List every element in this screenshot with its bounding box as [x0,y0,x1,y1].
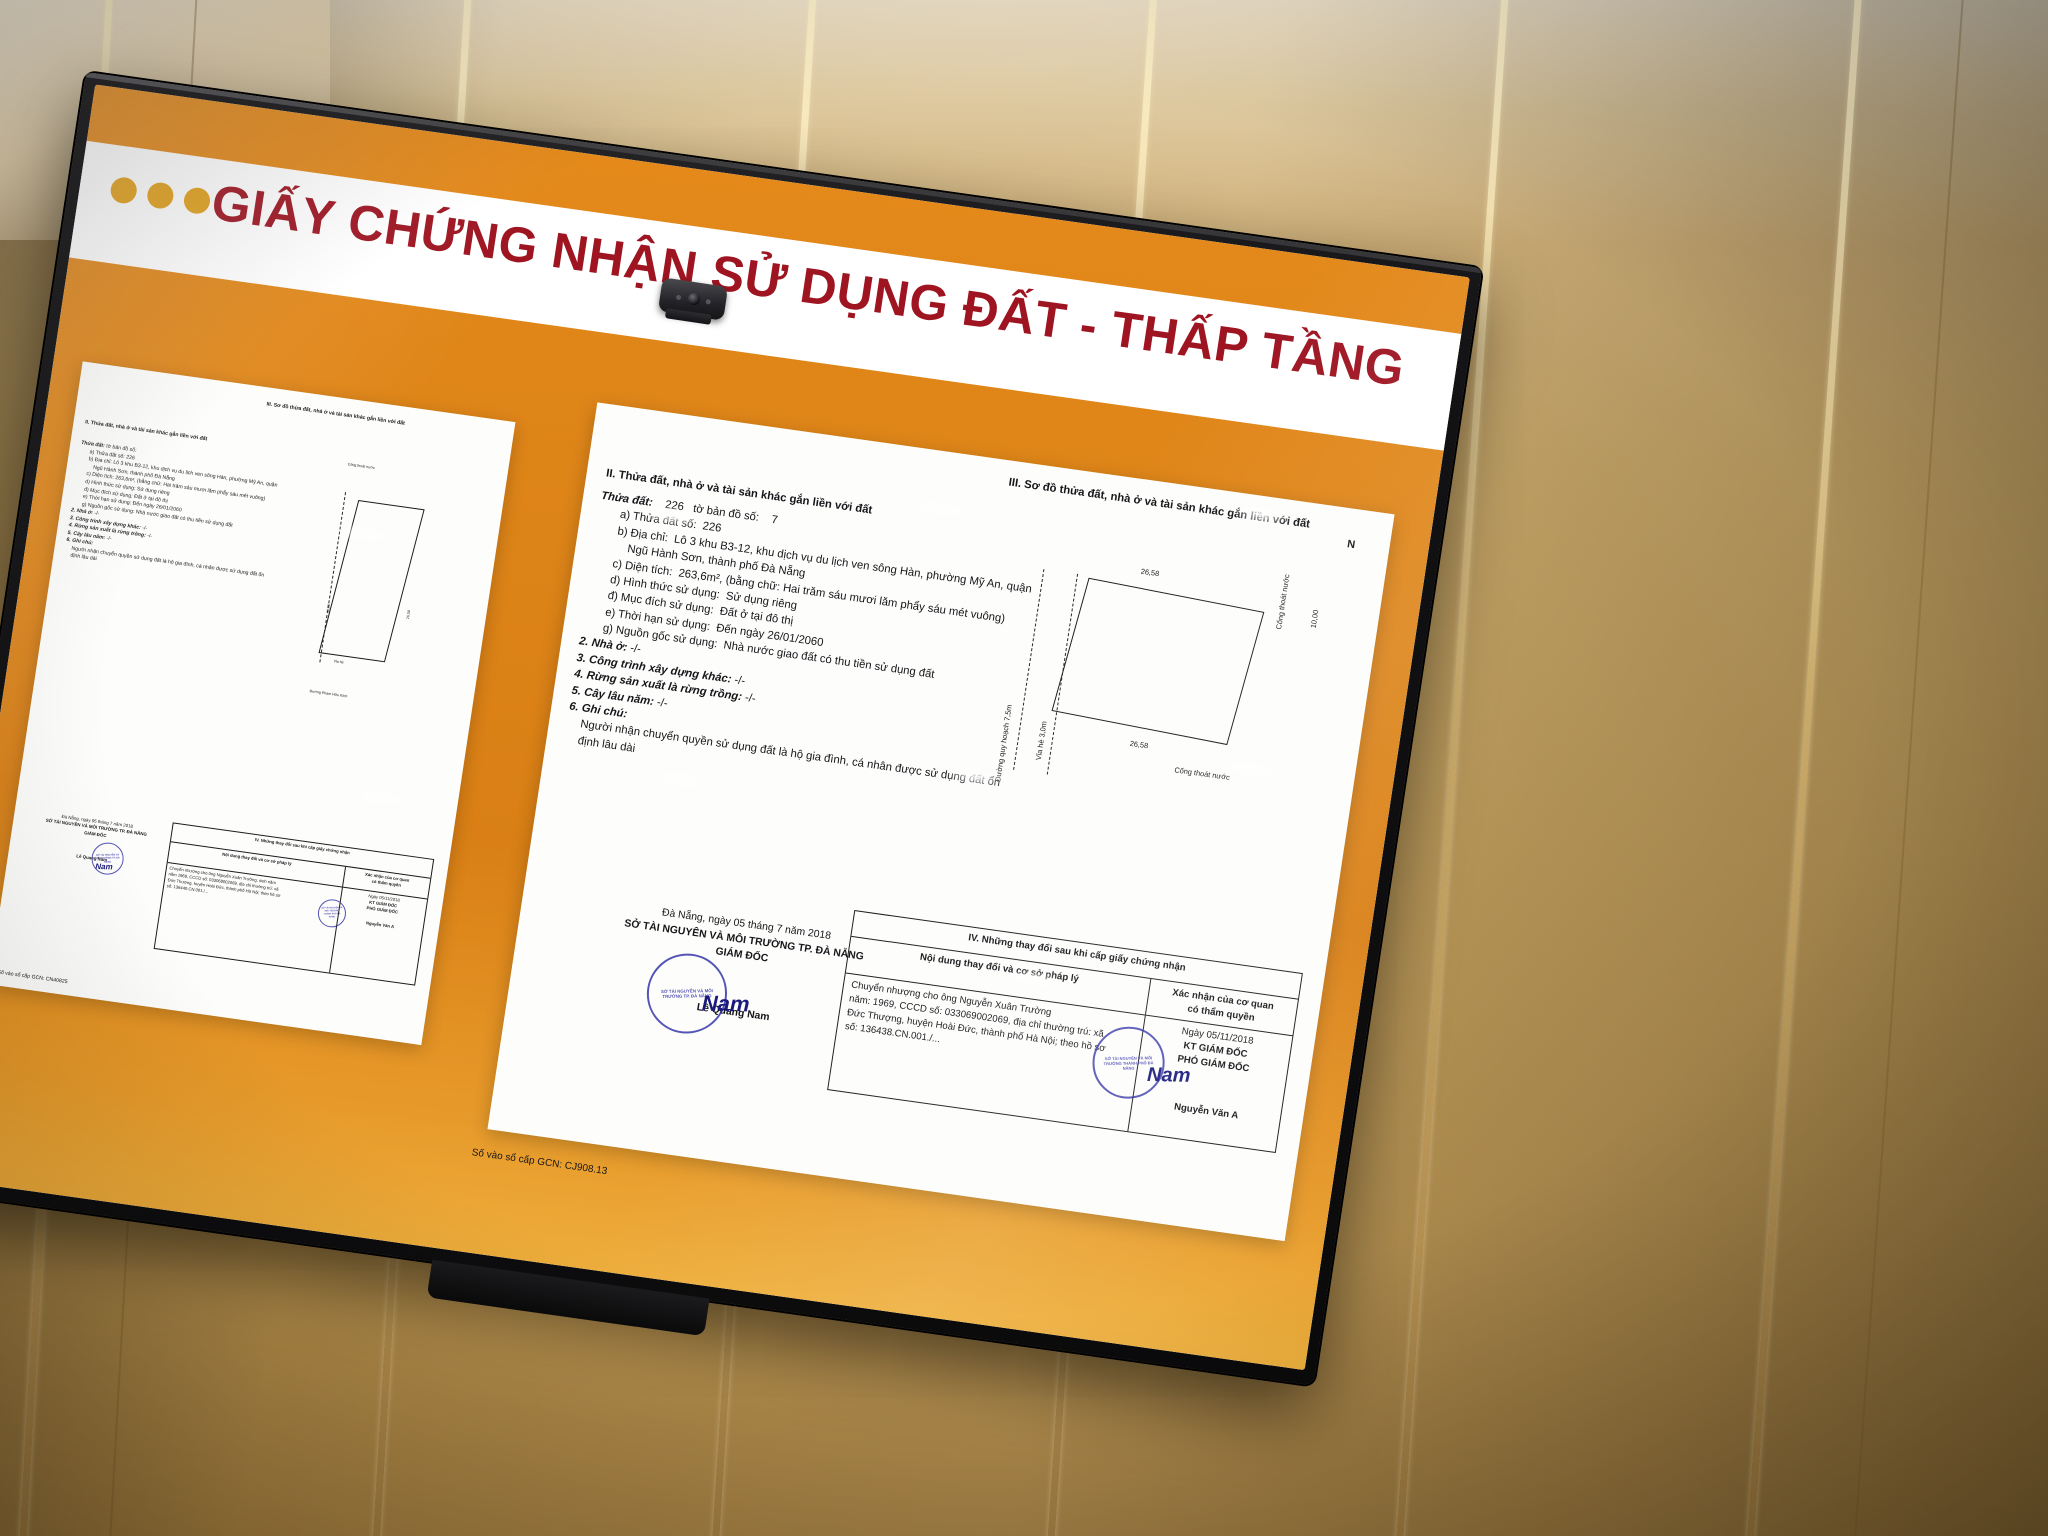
section-3-title-small: III. Sơ đồ thửa đất, nhà ở và tài sản kh… [266,401,405,428]
item-inline-value: 7 [771,514,779,527]
map-label-sidewalk: Vỉa hè 3,0m [1034,720,1051,761]
section-2-title-small: II. Thửa đất, nhà ở và tài sản khác gắn … [84,419,207,444]
decor-dot-icon [108,176,138,205]
item-num: 4. [573,668,584,681]
item-num: 2. [578,636,589,649]
decor-dot-icon [145,181,175,210]
item-value: 226 [126,454,135,461]
map-label-culvert-bottom: Cống thoát nước [1174,766,1231,784]
official-stamp-small-2: SỞ TÀI NGUYÊN VÀ MÔI TRƯỜNG THÀNH PHỐ ĐÀ… [318,899,346,927]
item-value: -/- [734,674,746,687]
map-label-road: Đường quy hoạch 7,5m [993,704,1015,783]
handwritten-signature: Nam [702,988,751,1021]
parcel-boundary [1052,578,1265,745]
wall-seam [1743,0,1864,1536]
parcel-map-small: Cống thoát nước 10,00 26,58 Vỉa hè Đường… [261,431,493,732]
map-dim-bottom: 26,58 [1129,739,1149,752]
map-label-sidewalk: Vỉa hè [333,659,344,666]
item-label: Thửa đất: [81,440,106,449]
document-sheet-large: III. Sơ đồ thửa đất, nhà ở và tài sản kh… [488,403,1395,1242]
wall-mounted-tv: GIẤY CHỨNG NHẬN SỬ DỤNG ĐẤT - THẤP TẦNG … [0,72,1482,1386]
map-label-culvert: Cống thoát nước [347,462,375,471]
decor-dot-icon [182,186,212,215]
authority-confirm-cell: Ngày 05/11/2018 KT GIÁM ĐỐC PHÓ GIÁM ĐỐC… [330,888,427,985]
item-value: -/- [106,535,112,542]
item-value: -/- [142,525,148,532]
screenshot-root: GIẤY CHỨNG NHẬN SỬ DỤNG ĐẤT - THẤP TẦNG … [0,0,2048,1536]
handwritten-signature-small: Nam [95,861,113,873]
item-value: -/- [744,692,756,705]
map-label-dim: 26,58 [406,610,412,620]
document-items-small: Thửa đất: tờ bản đồ số: a) Thửa đất số: … [63,440,306,591]
certificate-document-small: III. Sơ đồ thửa đất, nhà ở và tài sản kh… [0,362,516,1046]
item-value: -/- [656,696,668,709]
tv-screen: GIẤY CHỨNG NHẬN SỬ DỤNG ĐẤT - THẤP TẦNG … [0,84,1470,1370]
north-arrow-icon: N [1346,537,1356,554]
item-label: b) Địa chỉ: [88,457,112,466]
item-value: 226 [664,499,684,513]
parcel-boundary [319,500,426,663]
wall-seam [1392,0,1511,1536]
presentation-slide: GIẤY CHỨNG NHẬN SỬ DỤNG ĐẤT - THẤP TẦNG … [0,84,1470,1370]
footer-note: Số vào sổ cấp GCN: CJ908.13 [471,1146,609,1179]
parcel-map: 26,58 26,58 Cống thoát nước 10,00 Cống t… [961,483,1378,869]
map-dim-top: 26,58 [1140,566,1160,579]
map-label-road: Đường Phạm Hữu Kính [309,689,348,699]
document-sheet-small: III. Sơ đồ thửa đất, nhà ở và tài sản kh… [0,362,516,1046]
item-value: -/- [629,643,641,656]
footer-note-small: Số vào sổ cấp GCN: CN40825 [0,969,68,986]
certificate-document-large: III. Sơ đồ thửa đất, nhà ở và tài sản kh… [488,403,1395,1242]
map-label-culvert-right: Cống thoát nước [1274,574,1293,631]
item-value: -/- [147,533,153,540]
table-iv-small: IV. Những thay đổi sau khi cấp giấy chứn… [153,823,434,986]
item-num: 3. [576,652,587,665]
item-num: 5. [571,684,582,697]
table-iv: IV. Những thay đổi sau khi cấp giấy chứn… [827,910,1303,1153]
item-num: 6. [568,700,579,713]
handwritten-signature-2: Nam [1147,1062,1191,1092]
item-value: -/- [94,511,100,518]
item-value: 226 [702,521,722,535]
wall-groove [1846,0,1967,1536]
map-label-width-right: 10,00 [1308,609,1321,629]
